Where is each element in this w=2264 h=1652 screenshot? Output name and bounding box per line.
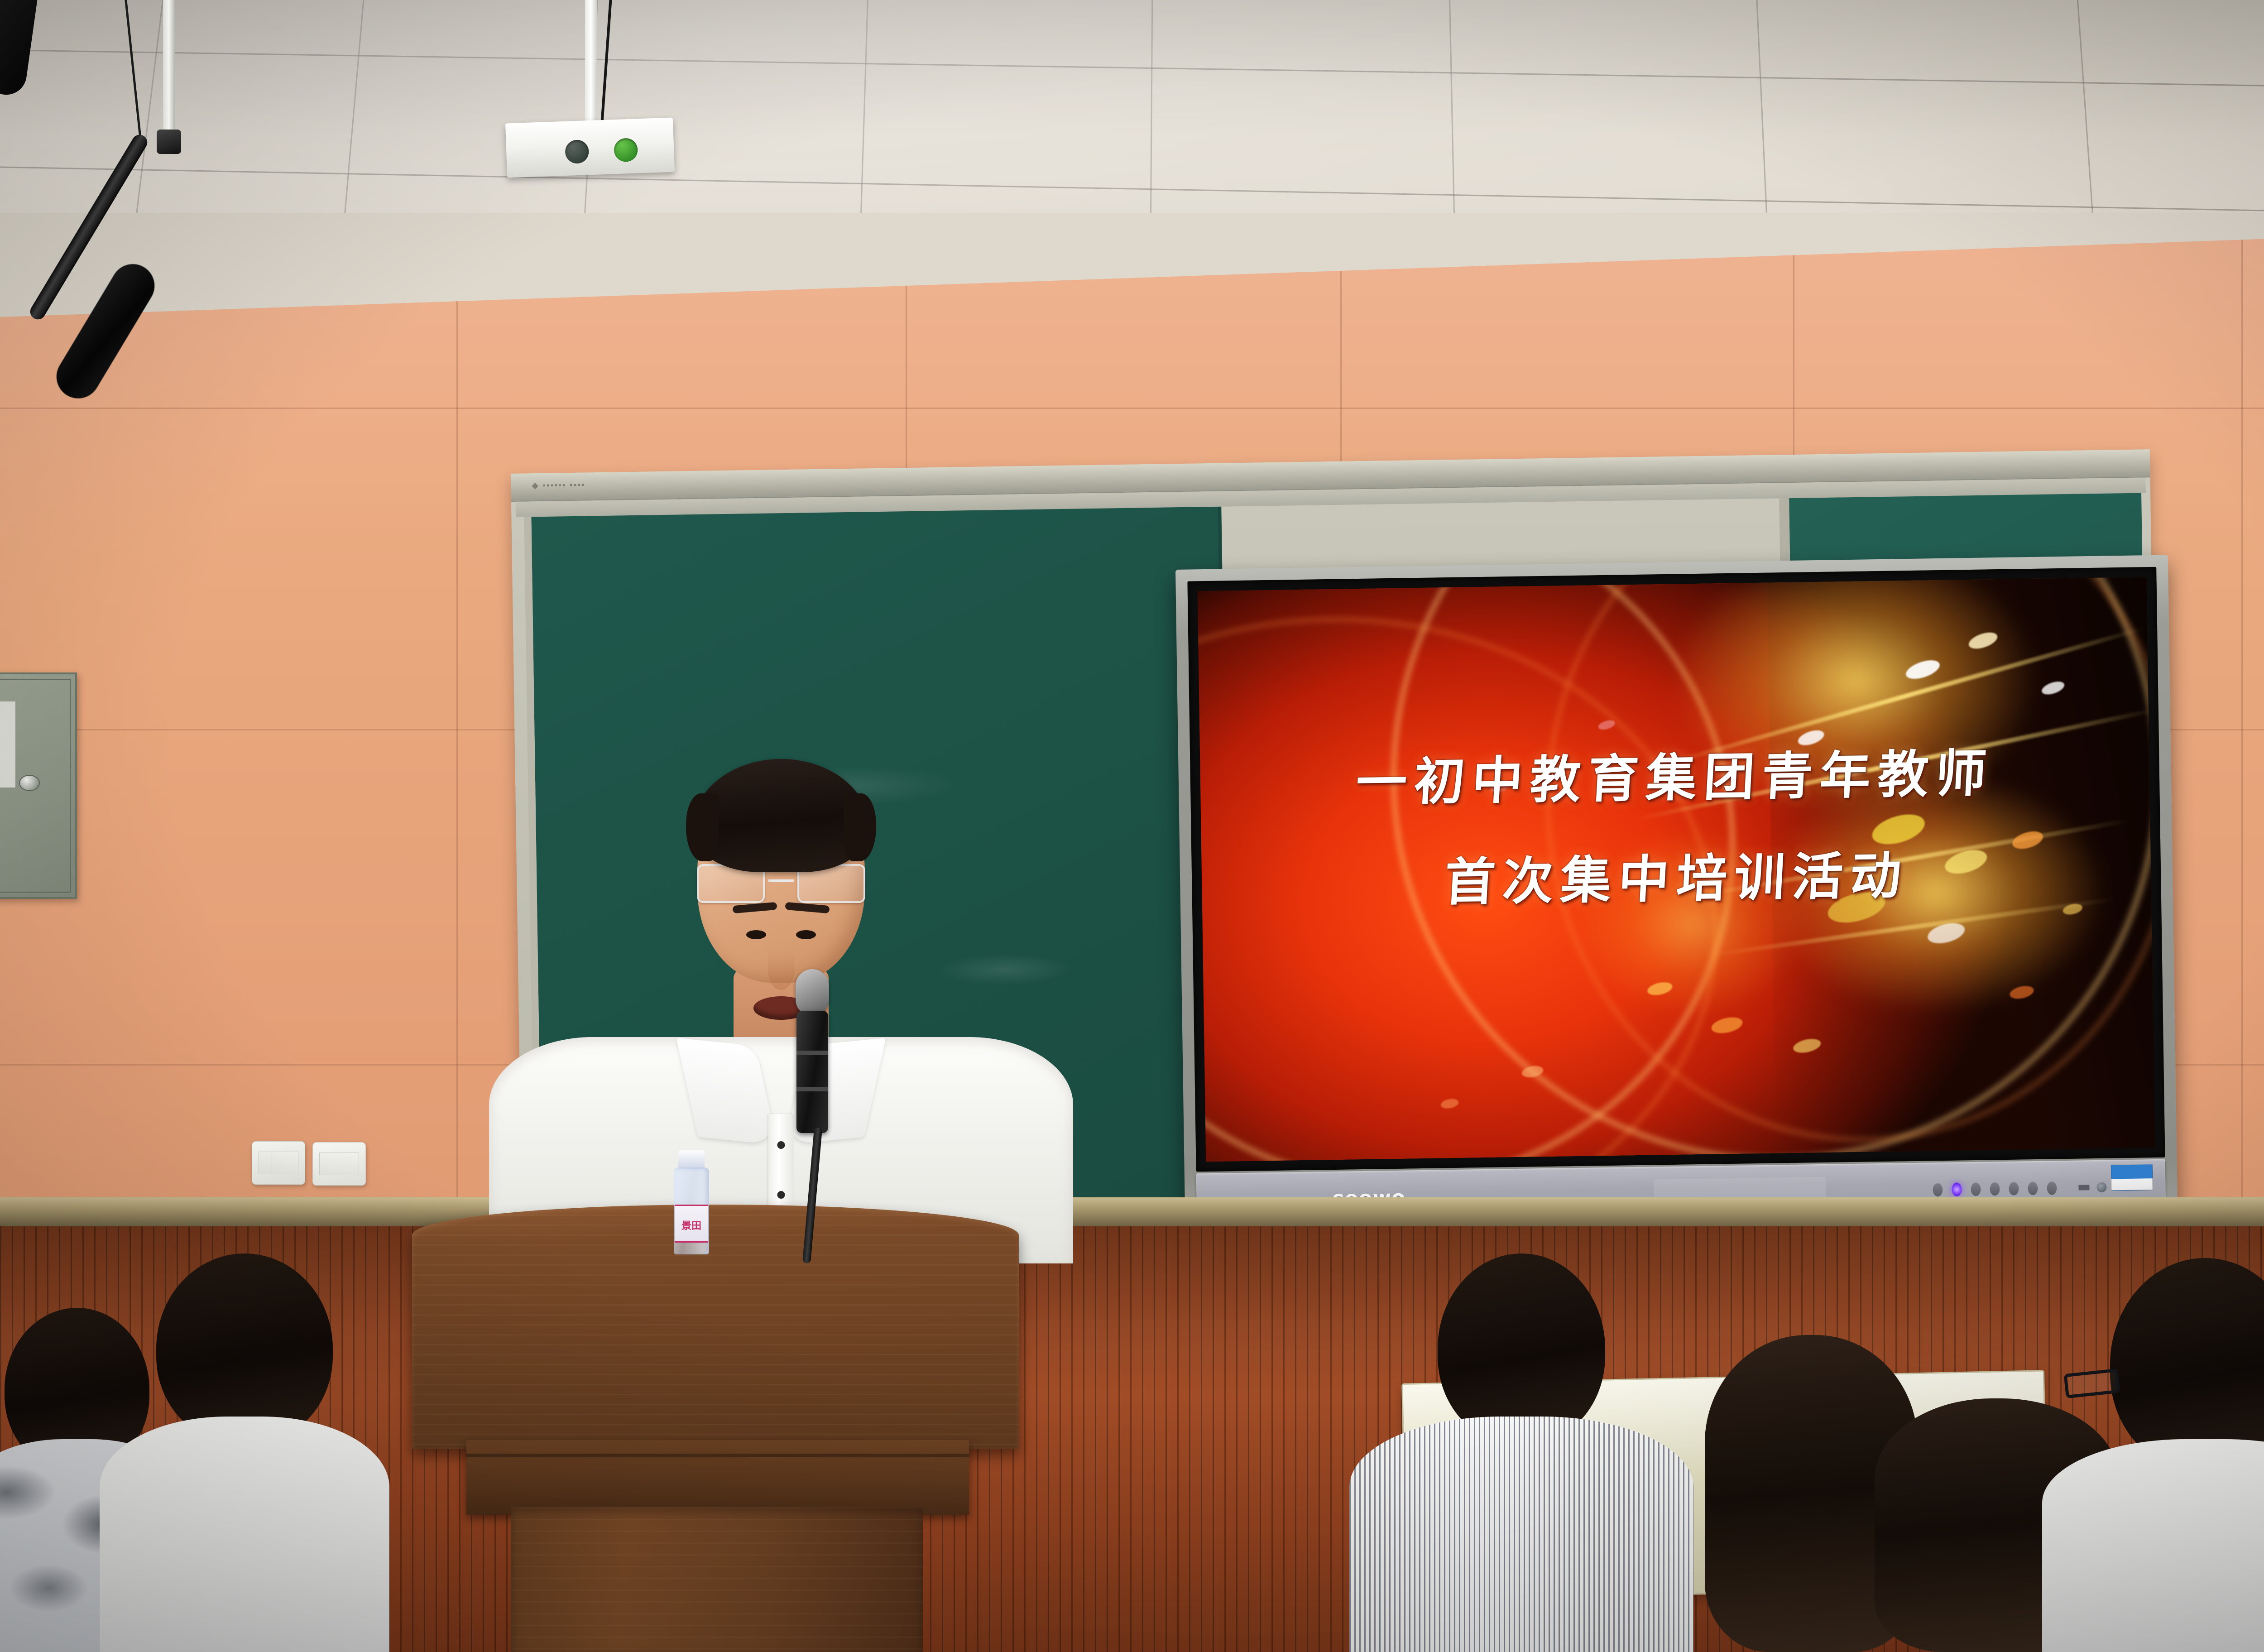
board-button-power-indicator[interactable] [1952, 1182, 1962, 1196]
attendee-head [1438, 1253, 1605, 1444]
board-button-6[interactable] [2047, 1181, 2057, 1195]
board-button-1[interactable] [1933, 1183, 1943, 1196]
speaker-eye-left [746, 930, 766, 939]
attendee-white-shirt-left [118, 1253, 371, 1652]
chalkboard-maker-label: ◆ ▪▪▪▪▪▪ ▪▪▪▪ [532, 480, 585, 491]
bottle-label: 景田 [675, 1205, 708, 1243]
gooseneck-microphone[interactable] [786, 969, 840, 1223]
attendee-glasses-right [2047, 1258, 2264, 1652]
bottle-brand-text: 景田 [675, 1218, 708, 1232]
podium-mid-shelf [466, 1440, 969, 1515]
microphone-capsule-icon [796, 969, 829, 1016]
wainscot-ledge [0, 1197, 2264, 1226]
presentation-screen[interactable]: 一初中教育集团青年教师 首次集中培训活动 [1198, 577, 2155, 1162]
podium-shelf-edge [466, 1454, 969, 1457]
classroom-photo-scene: ◆ ▪▪▪▪▪▪ ▪▪▪▪ [0, 0, 2264, 1652]
switch-rocker[interactable] [319, 1153, 359, 1175]
power-button-icon[interactable] [2096, 1182, 2106, 1192]
light-switch-triple[interactable] [252, 1141, 305, 1185]
power-slot-left[interactable] [2078, 1185, 2089, 1190]
slide-title-line-2: 首次集中培训活动 [1199, 826, 2154, 932]
speaker-podium: 南通苏通科技产业园区实验中学 1958 SUTONG HIGH SCHOOL [408, 1205, 1023, 1652]
attendee-striped-shirt [1367, 1253, 1675, 1652]
sensor-bar-housing [505, 118, 675, 178]
switch-rockers[interactable] [259, 1152, 298, 1174]
attendee-body [1349, 1417, 1693, 1652]
bottle-cap[interactable] [678, 1150, 705, 1169]
glasses-bridge [768, 879, 794, 882]
attendee-body [100, 1417, 389, 1652]
seewo-interactive-whiteboard[interactable]: 一初中教育集团青年教师 首次集中培训活动 seewo [1175, 555, 2178, 1239]
microphone-ring-2 [796, 1087, 828, 1091]
ceiling-boom-microphone [68, 0, 276, 340]
podium-body: 南通苏通科技产业园区实验中学 1958 SUTONG HIGH SCHOOL [511, 1507, 923, 1652]
boom-pole [163, 0, 175, 136]
smartboard-button-row[interactable] [1933, 1181, 2057, 1196]
sensor-bar-cable [600, 0, 612, 127]
speaker-presenter [539, 716, 1023, 1259]
microphone-ring-1 [796, 1051, 828, 1055]
boom-pivot-joint[interactable] [157, 130, 181, 154]
board-button-3[interactable] [1990, 1182, 2000, 1196]
attendee-body [2042, 1439, 2264, 1652]
podium-top-panel [412, 1205, 1019, 1449]
board-button-4[interactable] [2009, 1182, 2019, 1196]
shirt-button-2 [777, 1191, 785, 1199]
sensor-lens-dark-icon [565, 139, 589, 164]
podium-wood-grain [412, 1205, 1019, 1449]
speaker-eye-right [796, 930, 816, 939]
board-button-5[interactable] [2028, 1181, 2038, 1195]
shirt-button-1 [777, 1141, 785, 1149]
electrical-access-panel[interactable] [0, 672, 77, 899]
microphone-body [796, 1011, 828, 1133]
panel-lock-icon[interactable] [19, 775, 40, 791]
sensor-lens-green-icon [614, 138, 638, 162]
slide-title-block: 一初中教育集团青年教师 首次集中培训活动 [1200, 725, 2152, 932]
attendee-head [156, 1253, 333, 1444]
podium-body-grain [511, 1507, 923, 1652]
light-switch-single[interactable] [312, 1142, 366, 1186]
boom-cable [124, 0, 141, 137]
product-sticker [2111, 1164, 2153, 1191]
speaker-hair [692, 759, 870, 872]
smartboard-bezel: 一初中教育集团青年教师 首次集中培训活动 [1187, 567, 2165, 1172]
ceiling-sensor-bar [480, 0, 715, 177]
water-bottle[interactable]: 景田 [670, 1150, 712, 1254]
board-button-2[interactable] [1971, 1182, 1981, 1196]
slide-title-line-1: 一初中教育集团青年教师 [1198, 725, 2152, 831]
sensor-bar-pole [585, 0, 597, 125]
